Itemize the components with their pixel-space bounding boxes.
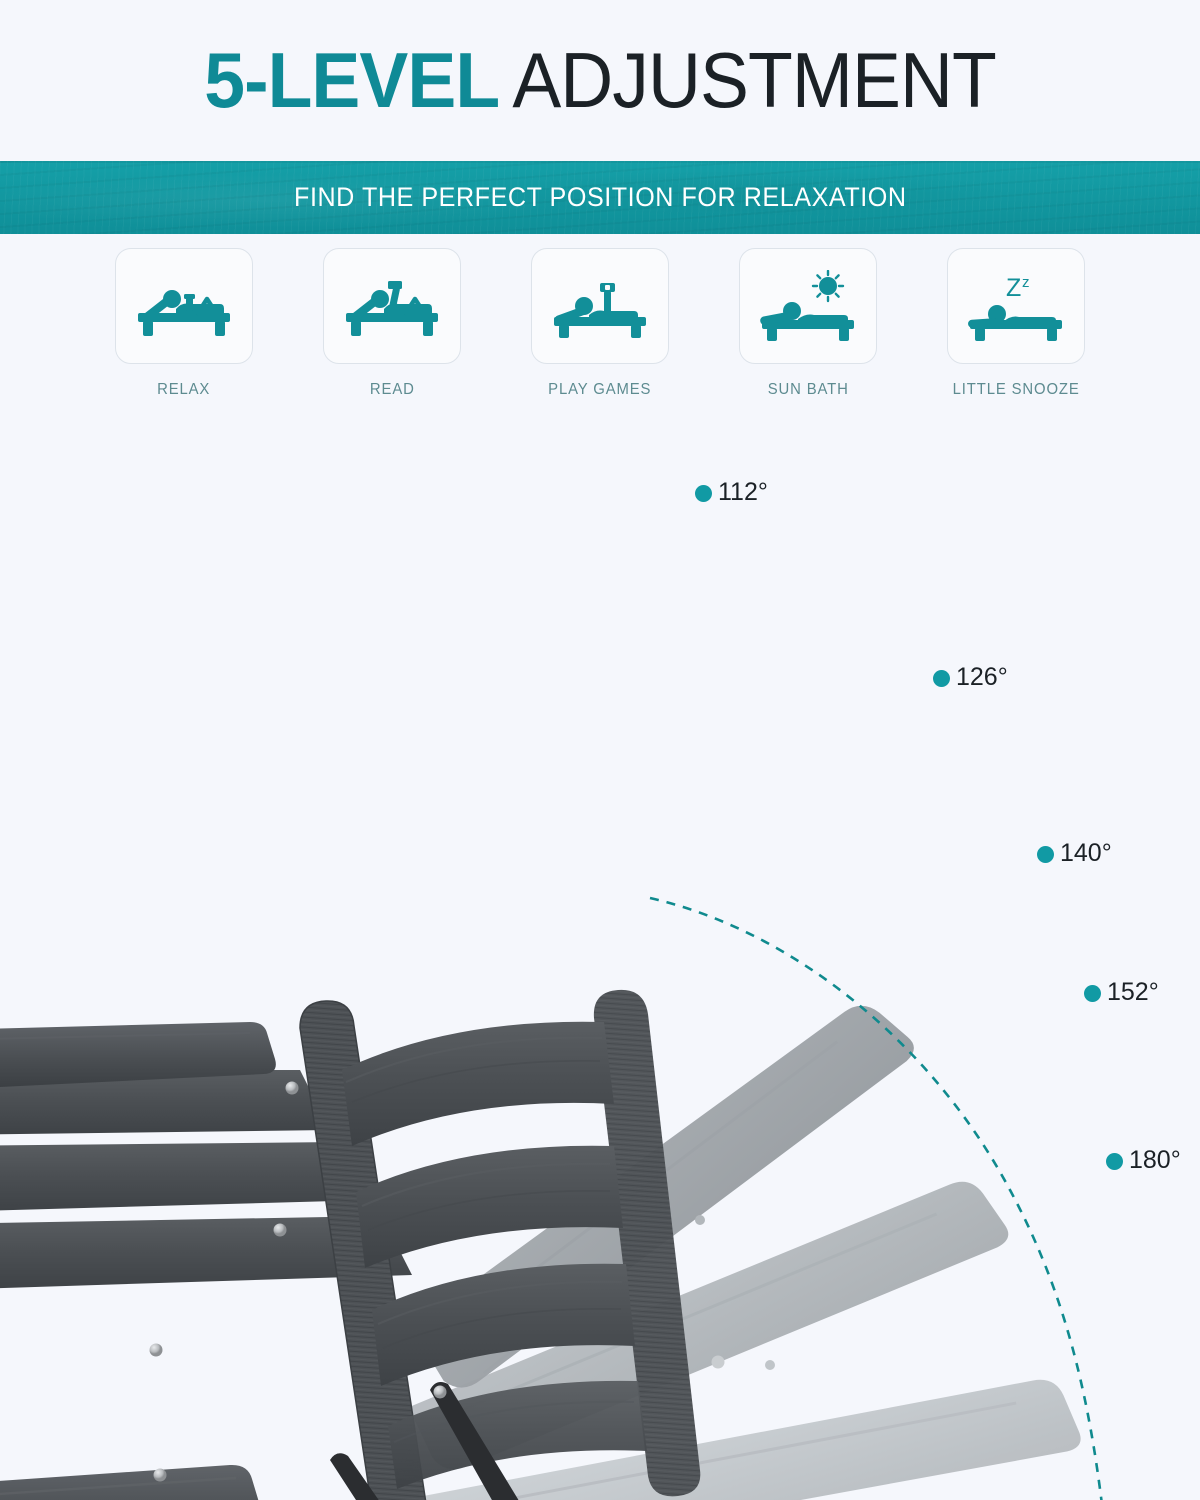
- person-sleeping-zzz-icon: Z z: [964, 270, 1068, 342]
- feature-label: RELAX: [157, 381, 210, 399]
- title-accent: 5-LEVEL: [204, 36, 499, 124]
- angle-label-112: 112°: [718, 478, 768, 507]
- feature-label: READ: [370, 381, 415, 399]
- header: 5-LEVELADJUSTMENT: [0, 0, 1200, 160]
- person-reading-book-icon: [340, 273, 444, 339]
- title-main: ADJUSTMENT: [512, 36, 995, 124]
- angle-dot-126: [933, 670, 950, 687]
- feature-label: SUN BATH: [767, 381, 848, 399]
- angle-label-140: 140°: [1060, 839, 1112, 868]
- angle-dot-180: [1106, 1153, 1123, 1170]
- feature-item-play-games: PLAY GAMES: [530, 248, 670, 428]
- angle-dot-112: [695, 485, 712, 502]
- person-reclining-with-drink-icon: [132, 273, 236, 339]
- chair-backrest: [300, 990, 700, 1500]
- feature-label: LITTLE SNOOZE: [953, 381, 1080, 399]
- feature-item-relax: RELAX: [114, 248, 254, 428]
- angle-dot-140: [1037, 846, 1054, 863]
- svg-text:z: z: [1022, 274, 1030, 291]
- angle-label-152: 152°: [1107, 978, 1159, 1007]
- angle-label-126: 126°: [956, 663, 1008, 692]
- feature-icon-row: RELAX READ: [0, 248, 1200, 428]
- angle-label-180: 180°: [1129, 1146, 1181, 1175]
- svg-text:Z: Z: [1006, 274, 1021, 302]
- feature-card: [323, 248, 461, 364]
- person-sunbathing-with-sun-icon: [756, 270, 860, 342]
- feature-item-little-snooze: Z z LITTLE SNOOZE: [946, 248, 1086, 428]
- feature-item-read: READ: [322, 248, 462, 428]
- feature-card: [531, 248, 669, 364]
- chair-armrest: [0, 1465, 262, 1500]
- feature-card: Z z: [947, 248, 1085, 364]
- product-illustration: 112° 126° 140° 152° 180°: [0, 430, 1200, 1500]
- subtitle-text: FIND THE PERFECT POSITION FOR RELAXATION: [294, 182, 906, 213]
- page-title: 5-LEVELADJUSTMENT: [204, 41, 996, 119]
- infographic-page: 5-LEVELADJUSTMENT FIND THE PERFECT POSIT…: [0, 0, 1200, 1500]
- feature-card: [115, 248, 253, 364]
- chaise-lounge-diagram: [0, 430, 1200, 1500]
- person-holding-phone-icon: [548, 273, 652, 339]
- feature-label: PLAY GAMES: [548, 381, 651, 399]
- subtitle-banner: FIND THE PERFECT POSITION FOR RELAXATION: [0, 161, 1200, 234]
- feature-item-sun-bath: SUN BATH: [738, 248, 878, 428]
- angle-dot-152: [1084, 985, 1101, 1002]
- feature-card: [739, 248, 877, 364]
